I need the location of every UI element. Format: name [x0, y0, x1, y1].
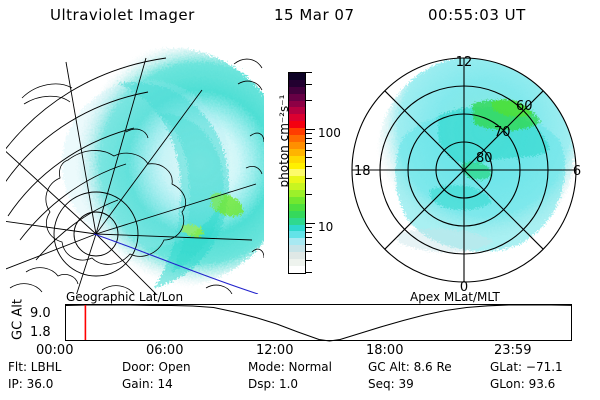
- status-field: GLat: −71.1: [490, 360, 563, 374]
- alt-tick-max: 9.0: [30, 306, 51, 321]
- colorbar-minor-tick: [306, 143, 312, 144]
- alt-curve: [66, 305, 572, 341]
- alt-xtick-3: 18:00: [366, 343, 403, 358]
- mlt-label-right: 6: [573, 164, 581, 179]
- colorbar-band: [289, 114, 305, 121]
- colorbar-band: [289, 80, 305, 87]
- colorbar-minor-tick: [306, 272, 312, 273]
- mlat-label-60: 60: [516, 99, 533, 114]
- colorbar-band: [289, 94, 305, 101]
- alt-xtick-4: 23:59: [494, 343, 531, 358]
- colorbar-band: [289, 176, 305, 183]
- colorbar-band: [289, 245, 305, 252]
- colorbar-minor-tick: [306, 232, 312, 233]
- colorbar-band: [289, 211, 305, 218]
- altitude-profile-plot[interactable]: [65, 304, 573, 342]
- instrument-title: Ultraviolet Imager: [50, 6, 195, 24]
- colorbar-band: [289, 197, 305, 204]
- colorbar-band: [289, 169, 305, 176]
- colorbar-band: [289, 238, 305, 245]
- colorbar-minor-tick: [306, 150, 312, 151]
- dial-grid: [352, 58, 576, 282]
- status-field: GLon: 93.6: [490, 377, 555, 391]
- colorbar-major-tick: [306, 223, 315, 224]
- colorbar-major-tick: [306, 129, 315, 130]
- alt-axis-label: GC Alt: [11, 290, 26, 350]
- geographic-map: [6, 44, 264, 294]
- colorbar-minor-tick: [306, 84, 312, 85]
- status-field: Seq: 39: [368, 377, 414, 391]
- alt-xtick-2: 12:00: [256, 343, 293, 358]
- mlat-label-70: 70: [494, 125, 511, 140]
- alt-plot-frame: [66, 305, 572, 341]
- colorbar-minor-tick: [306, 251, 312, 252]
- colorbar-band: [289, 252, 305, 259]
- alt-tick-min: 1.8: [30, 325, 51, 340]
- mlt-panel-caption: Apex MLat/MLT: [410, 290, 500, 304]
- colorbar-band: [289, 231, 305, 238]
- colorbar-minor-tick: [306, 72, 312, 73]
- colorbar-band: [289, 190, 305, 197]
- mlt-label-left: 18: [354, 164, 371, 179]
- status-block: Flt: LBHLDoor: OpenMode: NormalGC Alt: 8…: [0, 360, 600, 400]
- colorbar-band: [289, 204, 305, 211]
- colorbar-band: [289, 163, 305, 170]
- observation-time: 00:55:03 UT: [428, 6, 526, 24]
- colorbar-band: [289, 156, 305, 163]
- colorbar-band: [289, 73, 305, 80]
- colorbar-minor-tick: [306, 100, 312, 101]
- alt-xtick-0: 00:00: [36, 343, 73, 358]
- colorbar-gradient: [288, 72, 306, 274]
- geographic-panel-caption: Geographic Lat/Lon: [66, 290, 183, 304]
- status-field: Gain: 14: [122, 377, 173, 391]
- status-field: Flt: LBHL: [8, 360, 61, 374]
- colorbar-minor-tick: [306, 138, 312, 139]
- colorbar-band: [289, 259, 305, 266]
- colorbar-band: [289, 101, 305, 108]
- colorbar-minor-tick: [306, 157, 312, 158]
- colorbar-band: [289, 121, 305, 128]
- status-field: Mode: Normal: [248, 360, 332, 374]
- header-bar: Ultraviolet Imager 15 Mar 07 00:55:03 UT: [0, 6, 600, 30]
- mlt-label-top: 12: [456, 55, 473, 70]
- status-row-1: Flt: LBHLDoor: OpenMode: NormalGC Alt: 8…: [0, 360, 600, 377]
- colorbar-band: [289, 218, 305, 225]
- colorbar-band: [289, 135, 305, 142]
- colorbar-minor-tick: [306, 166, 312, 167]
- colorbar-minor-tick: [306, 237, 312, 238]
- colorbar-minor-tick: [306, 133, 312, 134]
- status-row-2: IP: 36.0Gain: 14Dsp: 1.0Seq: 39GLon: 93.…: [0, 377, 600, 394]
- colorbar-band: [289, 128, 305, 135]
- colorbar-band: [289, 183, 305, 190]
- colorbar-band: [289, 225, 305, 232]
- colorbar-band: [289, 107, 305, 114]
- aurora-emission-geographic: [49, 48, 289, 288]
- mlt-dial-panel[interactable]: 12 6 0 18 60 70 80: [334, 44, 594, 296]
- colorbar[interactable]: photon cm⁻²s⁻¹ 10010: [266, 56, 336, 296]
- colorbar-minor-tick: [306, 244, 312, 245]
- status-field: IP: 36.0: [8, 377, 53, 391]
- colorbar-band: [289, 149, 305, 156]
- geographic-panel[interactable]: [6, 44, 264, 294]
- colorbar-band: [289, 142, 305, 149]
- mlat-label-80: 80: [476, 151, 493, 166]
- alt-xtick-1: 06:00: [146, 343, 183, 358]
- colorbar-minor-tick: [306, 178, 312, 179]
- status-field: Dsp: 1.0: [248, 377, 298, 391]
- colorbar-band: [289, 266, 305, 273]
- status-field: GC Alt: 8.6 Re: [368, 360, 452, 374]
- colorbar-tick-label: 10: [318, 227, 333, 228]
- status-field: Door: Open: [122, 360, 191, 374]
- gc-altitude-strip[interactable]: GC Alt 9.0 1.8 Geographic Lat/Lon Apex M…: [0, 296, 600, 358]
- colorbar-minor-tick: [306, 227, 312, 228]
- observation-date: 15 Mar 07: [274, 6, 355, 24]
- mlt-dial: 12 6 0 18 60 70 80: [334, 44, 594, 296]
- colorbar-minor-tick: [306, 194, 312, 195]
- colorbar-minor-tick: [306, 260, 312, 261]
- colorbar-band: [289, 87, 305, 94]
